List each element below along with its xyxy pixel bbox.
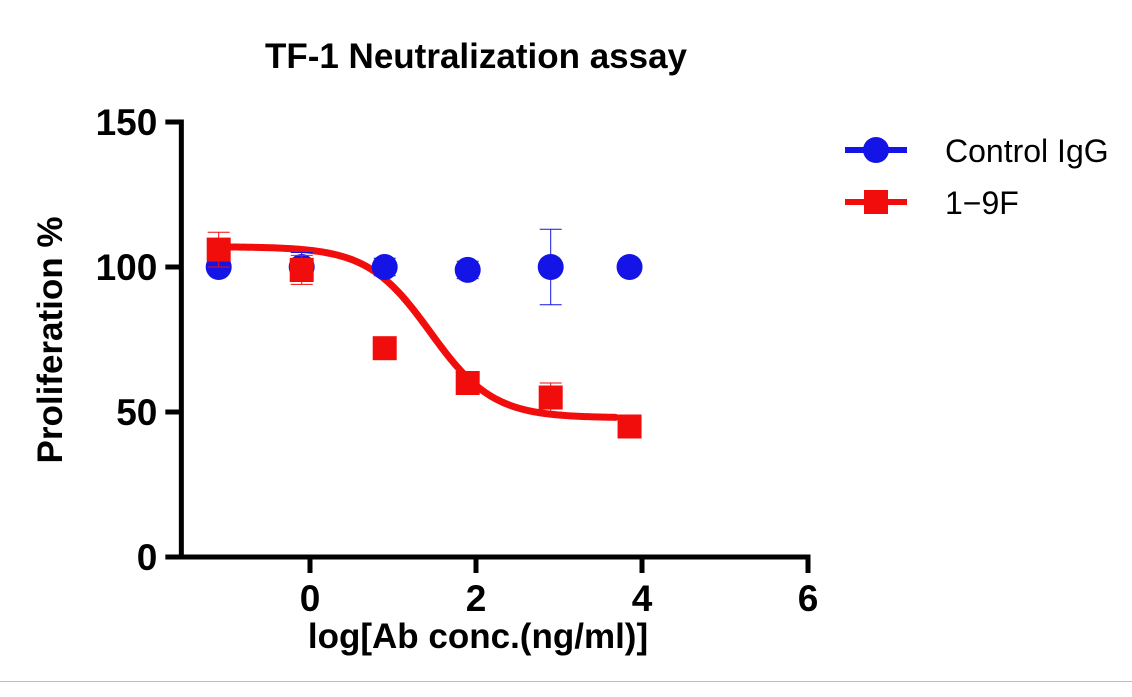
x-tick-label-6: 6: [798, 578, 819, 619]
data-point-square: [539, 386, 563, 410]
data-point-square: [373, 336, 397, 360]
y-axis: 050100150: [96, 102, 182, 578]
data-point-circle: [455, 257, 481, 283]
chart-title: TF-1 Neutralization assay: [265, 37, 688, 76]
series-0: [206, 229, 643, 304]
y-tick-label-0: 0: [137, 537, 158, 578]
bottom-divider: [0, 681, 1132, 682]
y-tick-label-50: 50: [116, 392, 157, 433]
x-tick-label-0: 0: [300, 578, 321, 619]
legend-label-1: 1−9F: [945, 185, 1019, 221]
neutralization-assay-plot: TF-1 Neutralization assay 050100150 0246…: [0, 0, 1132, 692]
legend-marker-square: [864, 190, 888, 214]
series-1: [207, 232, 642, 438]
x-axis: 0246: [181, 557, 818, 619]
y-axis-label: Proliferation %: [31, 217, 70, 464]
data-point-circle: [617, 254, 643, 280]
data-point-square: [456, 371, 480, 395]
data-point-square: [618, 415, 642, 439]
data-point-square: [207, 238, 231, 262]
chart-figure: TF-1 Neutralization assay 050100150 0246…: [0, 0, 1132, 692]
legend: Control IgG1−9F: [845, 133, 1109, 221]
data-point-circle: [538, 254, 564, 280]
x-tick-label-2: 2: [466, 578, 487, 619]
y-tick-label-150: 150: [96, 102, 158, 143]
y-tick-label-100: 100: [96, 247, 158, 288]
legend-label-0: Control IgG: [945, 133, 1109, 169]
x-axis-label: log[Ab conc.(ng/ml)]: [308, 617, 648, 656]
x-tick-label-4: 4: [632, 578, 653, 619]
legend-marker-circle: [863, 137, 889, 163]
data-point-circle: [372, 254, 398, 280]
data-point-square: [290, 258, 314, 282]
data-series: [206, 229, 643, 438]
